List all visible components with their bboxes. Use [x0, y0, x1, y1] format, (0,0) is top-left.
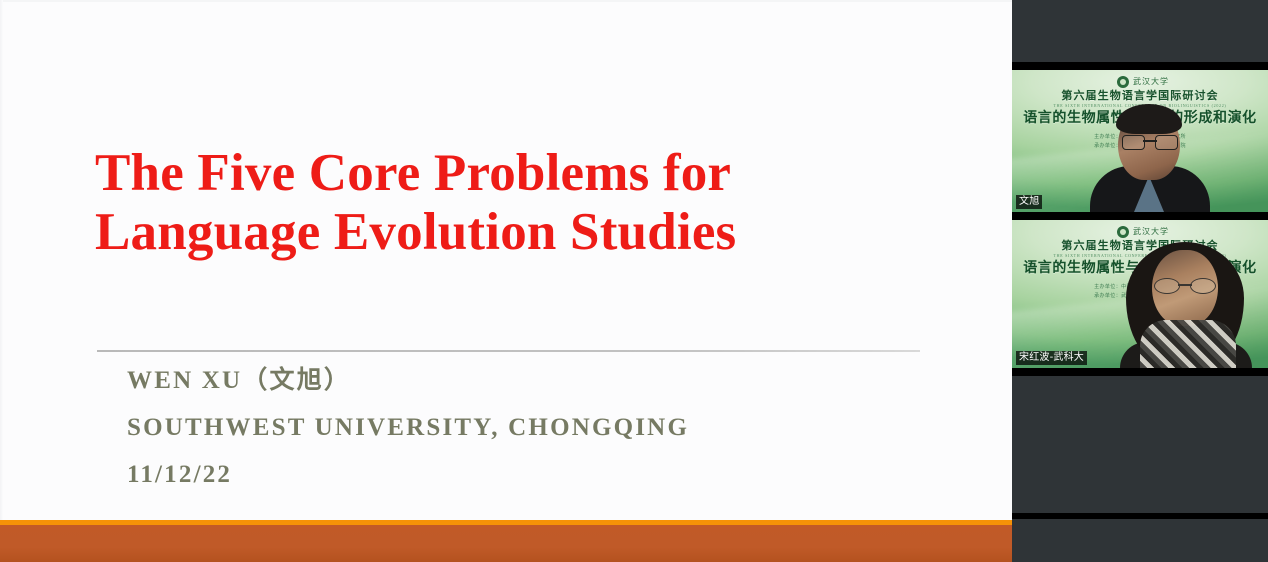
participant-tile[interactable] [1012, 376, 1268, 513]
participant-tile[interactable] [1012, 0, 1268, 62]
slide-subtitle-presenter: WEN XU（文旭） [127, 357, 987, 404]
slide-subtitle-date: 11/12/22 [127, 451, 987, 498]
participant-tile-wen-xu[interactable]: 武汉大学 第六届生物语言学国际研讨会 THE SIXTH INTERNATION… [1012, 70, 1268, 212]
participant-tile-song-hongbo[interactable]: 武汉大学 第六届生物语言学国际研讨会 THE SIXTH INTERNATION… [1012, 220, 1268, 368]
participant-name-badge: 宋红波-武科大 [1016, 351, 1087, 365]
slide-left-edge [0, 0, 3, 562]
slide-title: The Five Core Problems for Language Evol… [95, 144, 955, 262]
shared-slide: The Five Core Problems for Language Evol… [0, 0, 1012, 562]
video-feed [1012, 70, 1268, 212]
slide-divider-rule [97, 350, 920, 352]
slide-subtitle-affiliation: SOUTHWEST UNIVERSITY, CHONGQING [127, 404, 987, 451]
participant-name-badge: 文旭 [1016, 195, 1042, 209]
participant-filmstrip[interactable]: 武汉大学 第六届生物语言学国际研讨会 THE SIXTH INTERNATION… [1012, 0, 1268, 562]
meeting-screen-share-view: The Five Core Problems for Language Evol… [0, 0, 1268, 562]
slide-subtitle-block: WEN XU（文旭） SOUTHWEST UNIVERSITY, CHONGQI… [127, 357, 987, 498]
participant-tile[interactable] [1012, 519, 1268, 562]
slide-accent-band [0, 525, 1012, 562]
slide-top-edge [0, 0, 1012, 2]
video-feed [1012, 220, 1268, 368]
